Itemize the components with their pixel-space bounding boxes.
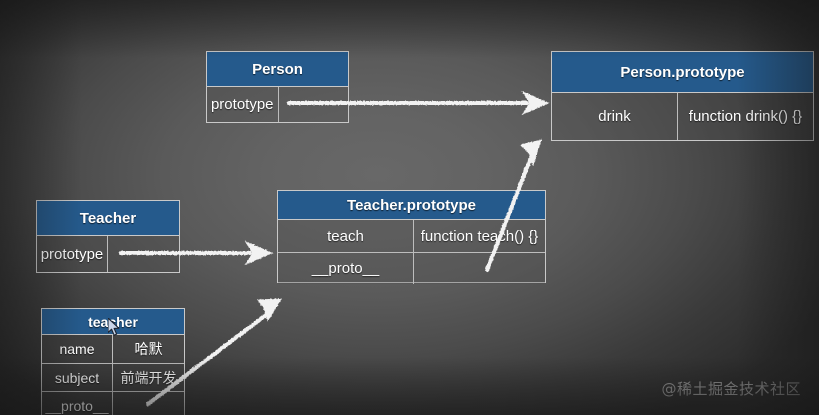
cell-value-drink: function drink() {}: [678, 93, 813, 140]
table-row: drink function drink() {}: [552, 93, 813, 140]
cell-value-teach: function teach() {}: [414, 220, 545, 252]
cell-key-subject: subject: [42, 364, 113, 391]
table-row: name 哈默: [42, 335, 184, 363]
cell-value-name: 哈默: [113, 335, 184, 363]
cell-key-name: name: [42, 335, 113, 363]
cell-key-prototype: prototype: [37, 236, 108, 272]
diagram-canvas: Person prototype Person.prototype drink …: [0, 0, 819, 415]
cell-value-prototype-ref: [108, 236, 179, 272]
table-row: subject 前端开发: [42, 363, 184, 391]
cell-value-prototype-ref: [279, 87, 349, 122]
table-row: __proto__: [278, 252, 545, 284]
box-person-prototype-title: Person.prototype: [552, 52, 813, 93]
cell-value-proto-ref: [113, 392, 184, 415]
box-teacher-title: Teacher: [37, 201, 179, 236]
cell-value-proto-ref: [414, 253, 545, 284]
box-teacher: Teacher prototype: [36, 200, 180, 273]
cell-key-proto: __proto__: [42, 392, 113, 415]
cell-key-drink: drink: [552, 93, 678, 140]
box-person: Person prototype: [206, 51, 349, 123]
table-row: __proto__: [42, 391, 184, 415]
cell-key-proto: __proto__: [278, 253, 414, 284]
cell-key-teach: teach: [278, 220, 414, 252]
mouse-cursor-icon: [108, 318, 122, 337]
watermark: @稀土掘金技术社区: [661, 378, 801, 399]
table-row: prototype: [207, 87, 348, 122]
box-teacher-prototype-title: Teacher.prototype: [278, 191, 545, 220]
box-person-prototype: Person.prototype drink function drink() …: [551, 51, 814, 141]
box-teacher-prototype: Teacher.prototype teach function teach()…: [277, 190, 546, 283]
cell-value-subject: 前端开发: [113, 364, 184, 391]
table-row: teach function teach() {}: [278, 220, 545, 252]
table-row: prototype: [37, 236, 179, 272]
box-person-title: Person: [207, 52, 348, 87]
cell-key-prototype: prototype: [207, 87, 279, 122]
